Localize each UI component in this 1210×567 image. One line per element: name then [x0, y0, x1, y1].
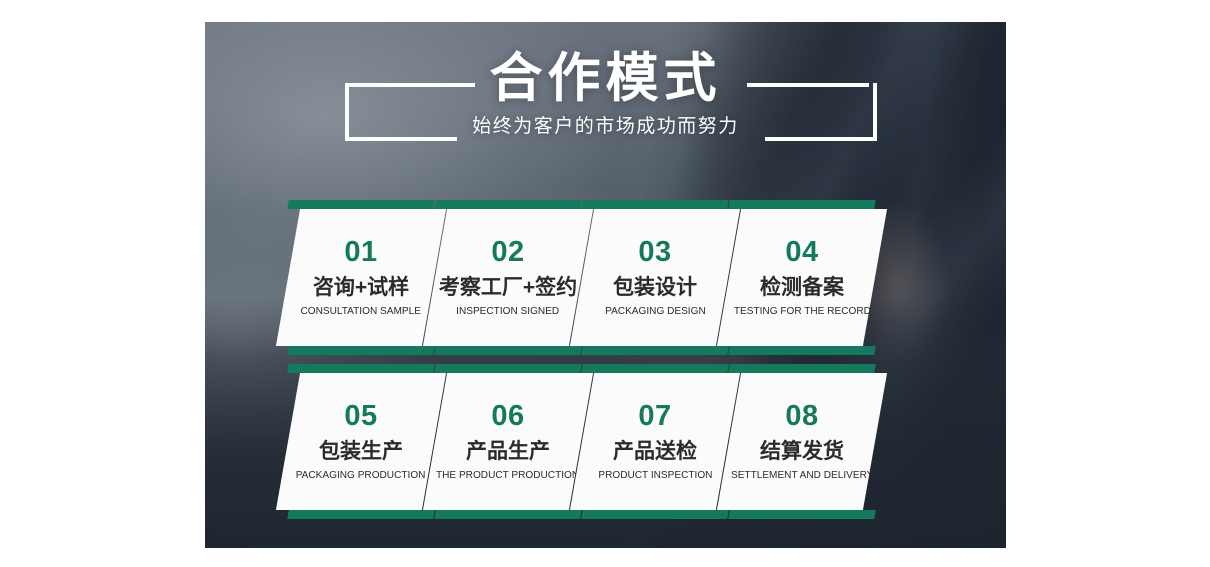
process-step-card[interactable]: 07 产品送检 PRODUCT INSPECTION: [582, 364, 728, 519]
process-row-first: 01 咨询+试样 CONSULTATION SAMPLE 02 考察工厂+签约 …: [288, 200, 928, 355]
bracket-left-bottom-line: [345, 137, 457, 141]
card-content: 02 考察工厂+签约 INSPECTION SIGNED: [435, 209, 581, 346]
page-title: 合作模式: [205, 52, 1006, 105]
step-title-cn: 检测备案: [760, 277, 844, 298]
step-number: 02: [491, 238, 524, 267]
step-title-cn: 包装生产: [319, 441, 403, 462]
card-content: 01 咨询+试样 CONSULTATION SAMPLE: [288, 209, 434, 346]
card-bottom-accent-bar: [728, 346, 876, 355]
cooperation-process-banner: 合作模式 始终为客户的市场成功而努力 01 咨询+试样 CONSULTATION…: [205, 22, 1006, 548]
card-top-accent-bar: [581, 364, 729, 373]
process-step-card[interactable]: 01 咨询+试样 CONSULTATION SAMPLE: [288, 200, 434, 355]
step-number: 06: [491, 402, 524, 431]
step-title-en: THE PRODUCT PRODUCTION: [436, 470, 579, 481]
step-title-cn: 包装设计: [613, 277, 697, 298]
banner-header: 合作模式 始终为客户的市场成功而努力: [205, 22, 1006, 182]
card-bottom-accent-bar: [581, 510, 729, 519]
card-top-accent-bar: [728, 364, 876, 373]
step-title-en: PRODUCT INSPECTION: [598, 470, 712, 481]
card-top-accent-bar: [287, 364, 435, 373]
process-step-card[interactable]: 06 产品生产 THE PRODUCT PRODUCTION: [435, 364, 581, 519]
step-number: 03: [638, 238, 671, 267]
process-step-card[interactable]: 04 检测备案 TESTING FOR THE RECORD: [729, 200, 875, 355]
card-top-accent-bar: [581, 200, 729, 209]
bracket-right-bottom-line: [765, 137, 877, 141]
page-root: 合作模式 始终为客户的市场成功而努力 01 咨询+试样 CONSULTATION…: [0, 0, 1210, 567]
card-bottom-accent-bar: [287, 510, 435, 519]
step-title-en: SETTLEMENT AND DELIVERY: [731, 470, 873, 481]
card-content: 04 检测备案 TESTING FOR THE RECORD: [729, 209, 875, 346]
card-top-accent-bar: [287, 200, 435, 209]
card-top-accent-bar: [434, 364, 582, 373]
process-step-card[interactable]: 03 包装设计 PACKAGING DESIGN: [582, 200, 728, 355]
page-subtitle: 始终为客户的市场成功而努力: [205, 117, 1006, 136]
process-row-second: 05 包装生产 PACKAGING PRODUCTION 06 产品生产 THE…: [288, 364, 928, 519]
step-number: 01: [344, 238, 377, 267]
card-bottom-accent-bar: [434, 510, 582, 519]
card-content: 06 产品生产 THE PRODUCT PRODUCTION: [435, 373, 581, 510]
step-title-en: TESTING FOR THE RECORD: [733, 306, 870, 317]
step-title-cn: 结算发货: [760, 441, 844, 462]
process-step-card[interactable]: 08 结算发货 SETTLEMENT AND DELIVERY: [729, 364, 875, 519]
card-bottom-accent-bar: [581, 346, 729, 355]
card-content: 08 结算发货 SETTLEMENT AND DELIVERY: [729, 373, 875, 510]
process-step-card[interactable]: 02 考察工厂+签约 INSPECTION SIGNED: [435, 200, 581, 355]
step-title-cn: 产品生产: [466, 441, 550, 462]
step-title-en: INSPECTION SIGNED: [456, 306, 559, 317]
step-number: 05: [344, 402, 377, 431]
step-title-en: CONSULTATION SAMPLE: [301, 306, 421, 317]
step-title-cn: 产品送检: [613, 441, 697, 462]
card-content: 03 包装设计 PACKAGING DESIGN: [582, 209, 728, 346]
step-number: 04: [785, 238, 818, 267]
step-title-en: PACKAGING DESIGN: [605, 306, 706, 317]
process-step-card[interactable]: 05 包装生产 PACKAGING PRODUCTION: [288, 364, 434, 519]
card-bottom-accent-bar: [728, 510, 876, 519]
card-top-accent-bar: [728, 200, 876, 209]
step-number: 08: [785, 402, 818, 431]
step-number: 07: [638, 402, 671, 431]
card-content: 05 包装生产 PACKAGING PRODUCTION: [288, 373, 434, 510]
card-bottom-accent-bar: [434, 346, 582, 355]
step-title-cn: 咨询+试样: [313, 277, 409, 298]
step-title-en: PACKAGING PRODUCTION: [296, 470, 426, 481]
step-title-cn: 考察工厂+签约: [439, 277, 577, 298]
card-bottom-accent-bar: [287, 346, 435, 355]
card-content: 07 产品送检 PRODUCT INSPECTION: [582, 373, 728, 510]
card-top-accent-bar: [434, 200, 582, 209]
